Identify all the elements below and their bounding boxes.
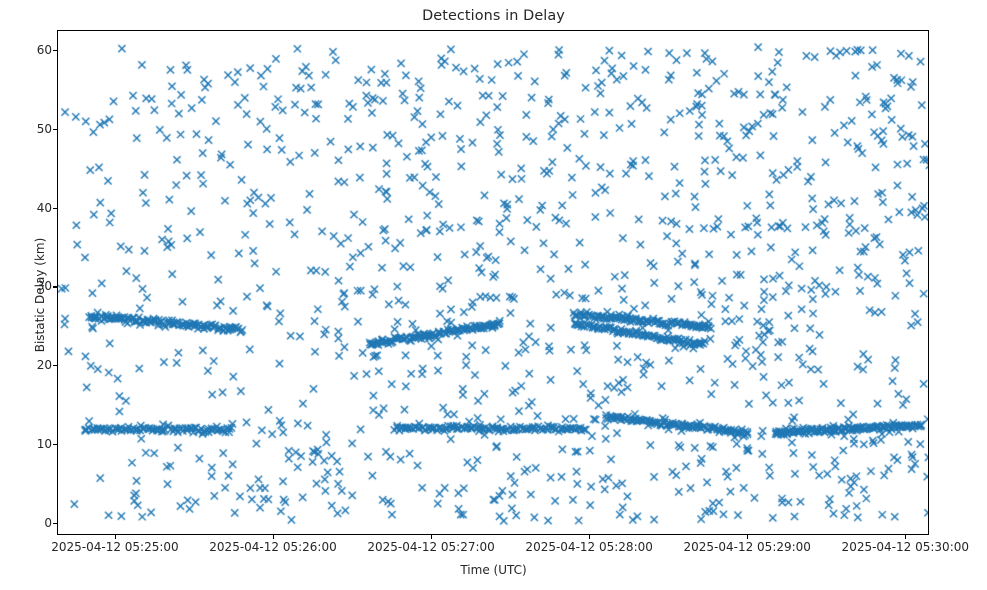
y-axis-label: Bistatic Delay (km)	[33, 135, 47, 455]
chart-title: Detections in Delay	[0, 8, 987, 24]
x-tick-label: 2025-04-12 05:30:00	[842, 540, 969, 554]
x-tick-mark	[747, 535, 748, 539]
x-tick-label: 2025-04-12 05:27:00	[367, 540, 494, 554]
figure: Detections in Delay Bistatic Delay (km) …	[0, 0, 987, 590]
x-tick-label: 2025-04-12 05:25:00	[51, 540, 178, 554]
x-tick-mark	[431, 535, 432, 539]
y-tick-mark	[53, 208, 57, 209]
y-tick-mark	[53, 286, 57, 287]
y-tick-mark	[53, 50, 57, 51]
y-tick-label: 40	[37, 201, 52, 215]
x-tick-label: 2025-04-12 05:28:00	[525, 540, 652, 554]
x-tick-mark	[115, 535, 116, 539]
y-tick-label: 10	[37, 437, 52, 451]
plot-area	[57, 30, 929, 535]
y-tick-mark	[53, 523, 57, 524]
y-tick-mark	[53, 444, 57, 445]
x-tick-label: 2025-04-12 05:26:00	[209, 540, 336, 554]
y-tick-mark	[53, 129, 57, 130]
y-tick-label: 50	[37, 122, 52, 136]
scatter-points-layer	[58, 31, 929, 535]
x-axis-label: Time (UTC)	[0, 563, 987, 577]
y-tick-label: 0	[44, 516, 52, 530]
x-tick-mark	[589, 535, 590, 539]
y-tick-label: 60	[37, 43, 52, 57]
x-tick-label: 2025-04-12 05:29:00	[683, 540, 810, 554]
x-tick-mark	[273, 535, 274, 539]
y-tick-label: 30	[37, 279, 52, 293]
x-tick-mark	[905, 535, 906, 539]
y-tick-label: 20	[37, 358, 52, 372]
y-tick-mark	[53, 365, 57, 366]
